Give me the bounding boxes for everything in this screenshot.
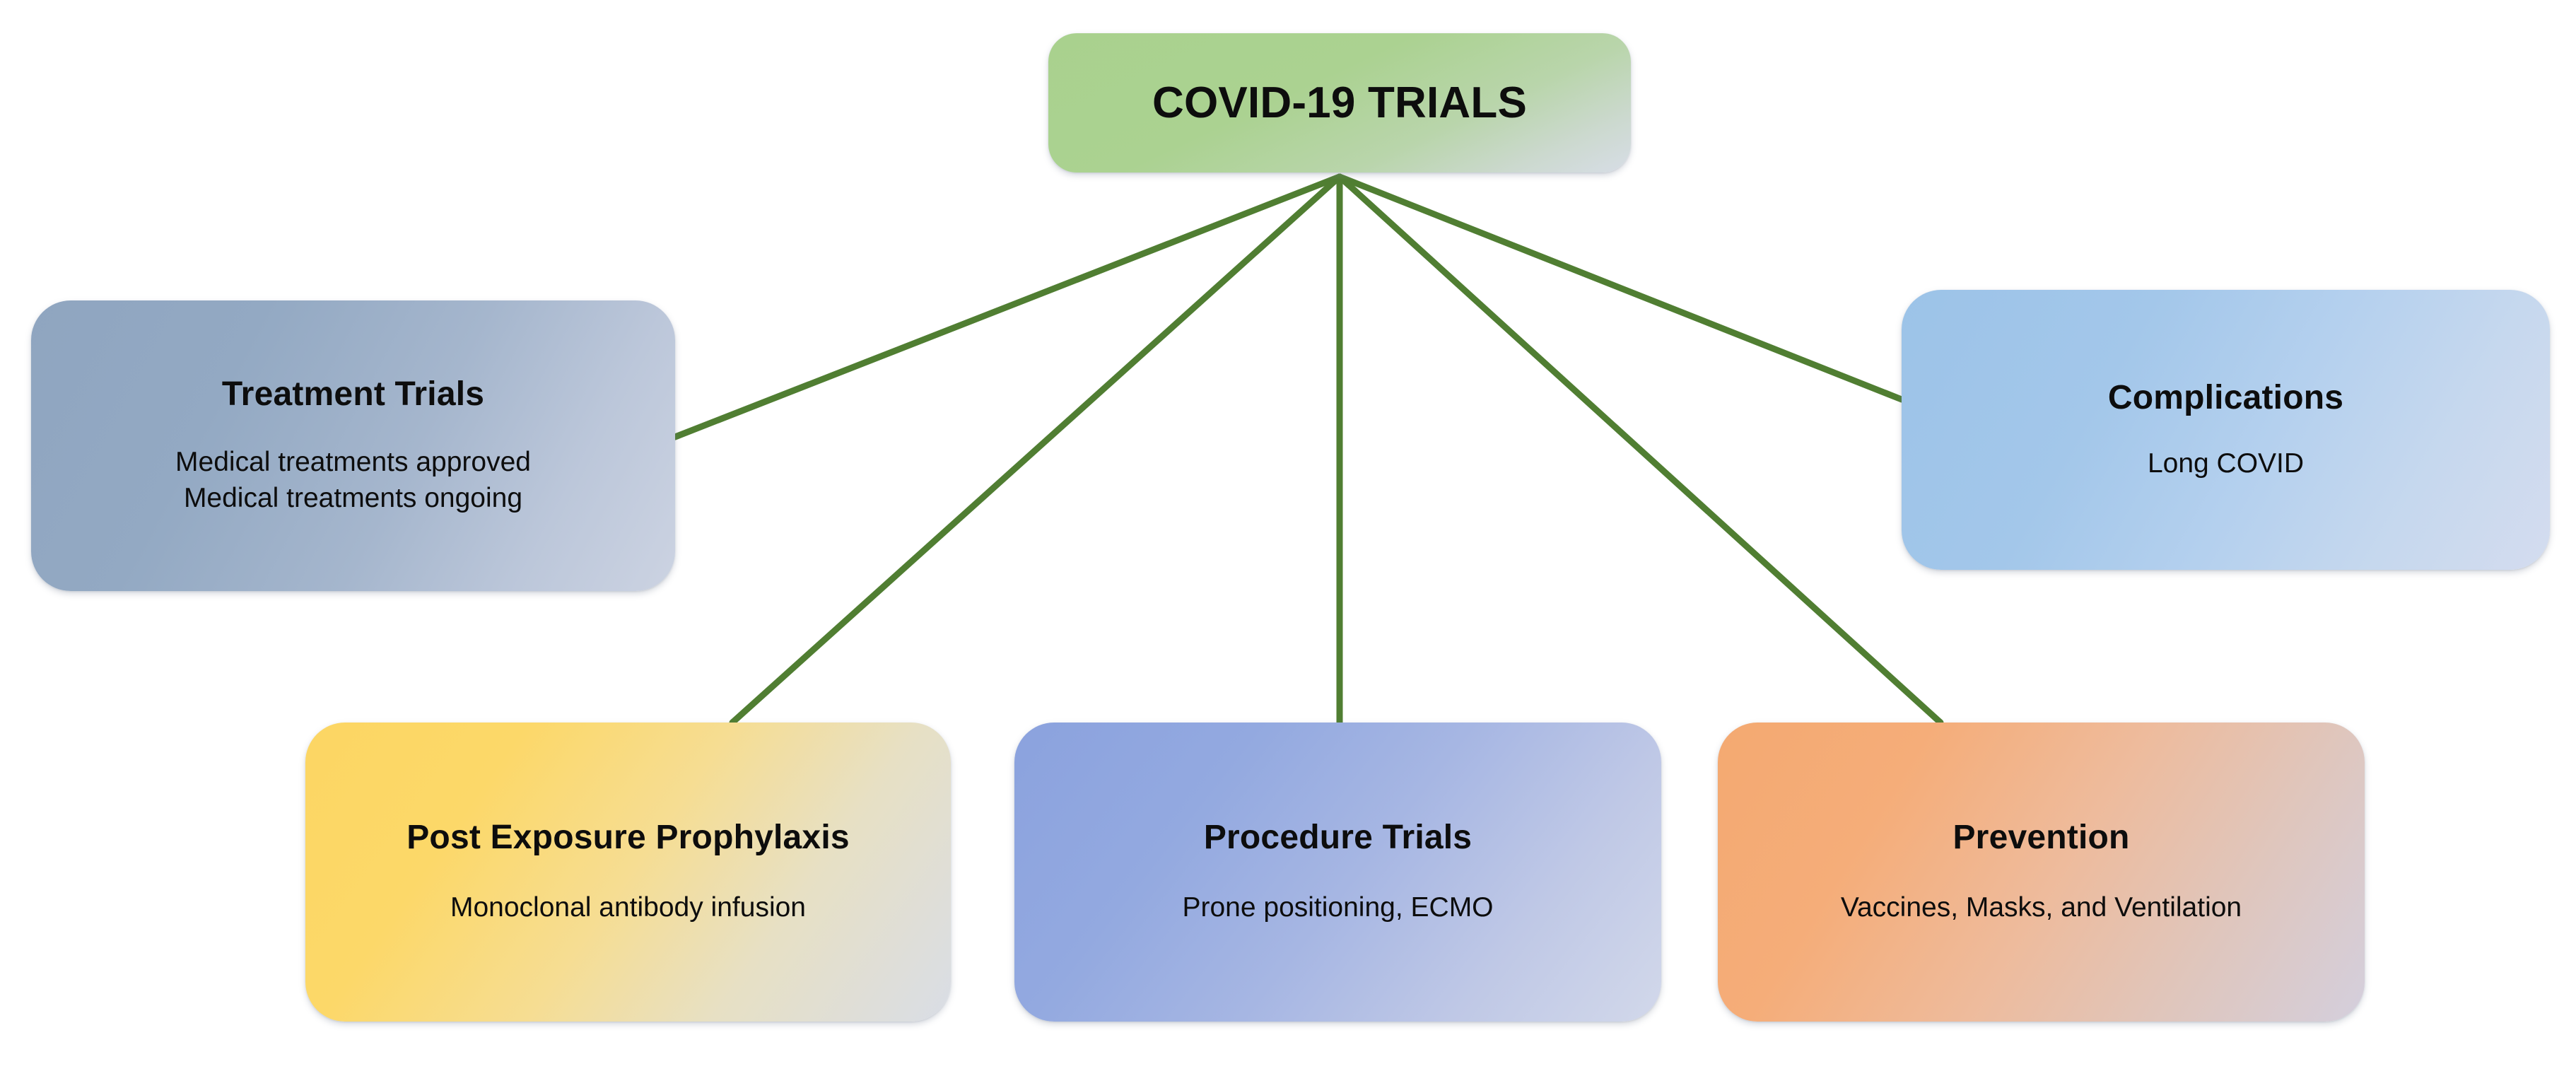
connector-root-to-prevention xyxy=(1340,177,1940,723)
node-subtitle-line: Medical treatments ongoing xyxy=(184,480,522,516)
node-title: Post Exposure Prophylaxis xyxy=(406,818,850,857)
node-title: Procedure Trials xyxy=(1204,818,1472,857)
node-procedure-trials[interactable]: Procedure Trials Prone positioning, ECMO xyxy=(1014,723,1661,1022)
node-subtitle-line: Vaccines, Masks, and Ventilation xyxy=(1841,889,2242,925)
node-covid-19-trials[interactable]: COVID-19 TRIALS xyxy=(1048,33,1631,172)
node-title: Treatment Trials xyxy=(222,375,484,414)
node-subtitle-line: Prone positioning, ECMO xyxy=(1182,889,1493,925)
node-subtitle-line: Monoclonal antibody infusion xyxy=(450,889,806,925)
node-complications[interactable]: Complications Long COVID xyxy=(1902,290,2550,570)
connector-root-to-treatment xyxy=(675,177,1340,437)
node-title: Complications xyxy=(2108,378,2343,417)
node-title: Prevention xyxy=(1953,818,2129,857)
node-treatment-trials[interactable]: Treatment Trials Medical treatments appr… xyxy=(31,300,675,591)
node-title: COVID-19 TRIALS xyxy=(1152,78,1527,128)
node-post-exposure-prophylaxis[interactable]: Post Exposure Prophylaxis Monoclonal ant… xyxy=(305,723,951,1022)
node-subtitle-line: Long COVID xyxy=(2148,445,2304,481)
diagram-canvas: COVID-19 TRIALS Treatment Trials Medical… xyxy=(0,0,2576,1076)
connector-root-to-pep xyxy=(732,177,1340,723)
node-subtitle-line: Medical treatments approved xyxy=(175,444,531,480)
connector-root-to-complications xyxy=(1340,177,1902,399)
node-prevention[interactable]: Prevention Vaccines, Masks, and Ventilat… xyxy=(1718,723,2365,1022)
